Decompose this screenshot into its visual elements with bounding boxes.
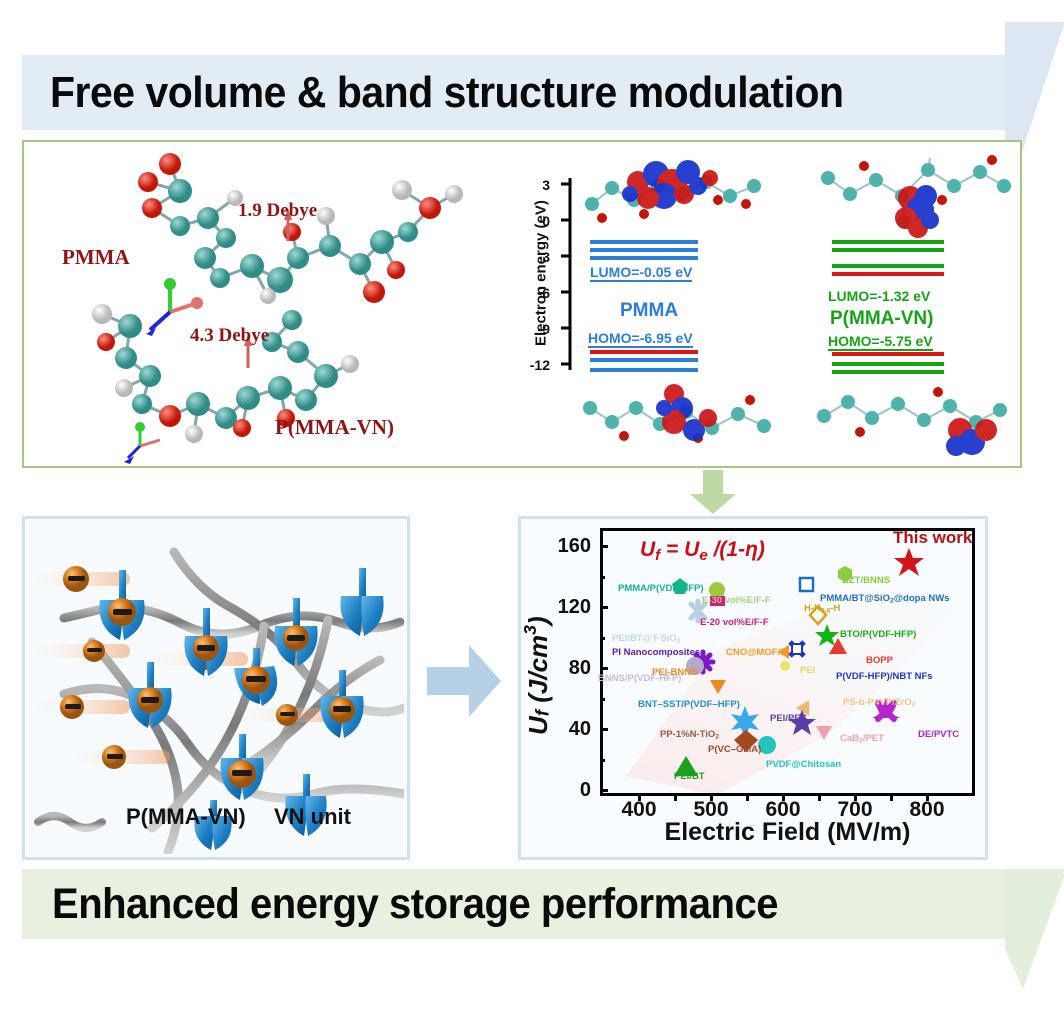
legend-chain-label: P(MMA-VN) [126,804,246,830]
chart-label-e20: E-20 vol%E/F-F [700,618,769,628]
chart-label-pvdf-chitosan: PVDF@Chitosan [766,760,841,770]
band-ytick--6: -6 [520,285,550,301]
axes-gizmo-icon-2 [124,422,160,464]
chart-label-de-pvtc: DE/PVTC [918,730,959,740]
pmmavn-lumo-level-1 [832,240,944,244]
chart-ytick-160: 160 [543,535,591,558]
chart-label-h-k08-h: H-K0.8-H [804,604,840,616]
pmmavn-homo-level-1 [832,362,944,366]
chart-xtick-600: 600 [748,798,818,822]
band-ytick-3: 3 [520,177,550,193]
pmma-homo-level-2 [590,368,698,372]
chart-label-bnt-sst: BNT–SST/P(VDF–HFP) [638,700,740,710]
pmma-lumo-level-3 [590,256,698,260]
pmmavn-lumo-level-3 [832,264,944,268]
top-banner: Free volume & band structure modulation [22,55,1022,130]
pmmavn-lumo-level-red [832,272,944,276]
arrow-right-icon [427,645,501,717]
pmmavn-homo-value: HOMO=-5.75 eV [828,333,933,351]
chart-ytick-80: 80 [543,657,591,680]
band-ytick--12: -12 [517,357,550,373]
chart-equation-annotation: Uf = Ue /(1-η) [640,538,765,564]
legend-chain-swatch [38,816,102,828]
chart-label-cab2-pet: CaB2/PET [840,734,884,746]
chart-plot-frame [600,528,975,796]
pmmavn-homo-orbital-illustration [810,380,1020,470]
pmma-homo-level-red [590,350,698,354]
arrow-down-icon [690,470,736,514]
chart-label-pmma-pvdf-hfp: PMMA/P(VDF-HFP) [618,584,704,594]
pmmavn-lumo-orbital-illustration [818,152,1018,282]
chart-xtick-800: 800 [892,798,962,822]
chart-label-pei-bnns: PEI-BNNS [652,668,697,678]
chart-label-pi-nanocomposites: PI Nanocomposites [612,648,700,658]
pmmavn-name-label: P(MMA-VN) [830,308,933,330]
label-dipole-pmma: 1.9 Debye [238,200,317,222]
chart-label-e30: E-30 vol%E/F-F [702,596,771,606]
pmmavn-lumo-level-2 [832,248,944,252]
label-pmma: PMMA [62,245,130,270]
chart-label-nbt-nfs: P(VDF-HFP)/NBT NFs [836,672,933,682]
chart-ytick-120: 120 [543,596,591,619]
chart-x-axis-label: Electric Field (MV/m) [600,818,975,847]
pmma-homo-value: HOMO=-6.95 eV [588,330,693,348]
chart-label-bzt-bnns: BZT/BNNS [842,576,890,586]
pmma-name-label: PMMA [620,300,678,322]
pmma-lumo-level-2 [590,248,698,252]
band-ytick--3: -3 [520,249,550,265]
bottom-banner: Enhanced energy storage performance [22,869,1022,939]
pmma-homo-level-1 [590,358,698,362]
chart-label-pei-pes: PEI/PES [770,714,807,724]
chart-label-pp-1-n-tio2: PP-1%N-TiO2 [660,730,719,742]
pmmavn-lumo-value: LUMO=-1.32 eV [828,288,930,304]
chart-label-pei: PEI [800,666,815,676]
molecular-structures-illustration [30,146,510,464]
chart-label-pvc-gma: P(VC–GMA) [708,745,761,755]
chart-xtick-700: 700 [820,798,890,822]
chart-this-work-annotation: This work [893,528,972,548]
chart-label-pei-bt: PEI/BT [674,772,705,782]
chart-xtick-500: 500 [676,798,746,822]
pmmavn-homo-level-2 [832,370,944,374]
chart-xtick-400: 400 [604,798,674,822]
pmma-homo-orbital-illustration [578,378,788,468]
chart-ytick-0: 0 [543,779,591,802]
chart-label-ps-b-p4vp-zro2: PS-b-P4VP/ZrO2 [843,698,915,710]
chart-label-bopp: BOPP [866,656,893,666]
chart-ytick-40: 40 [543,718,591,741]
chart-label-cno-mof-pi: CNO@MOF/PI [726,648,789,658]
band-ytick-0: 0 [520,213,550,229]
label-pmma-vn: P(MMA-VN) [275,415,394,440]
legend-vn-label: VN unit [274,804,351,830]
bottom-banner-text: Enhanced energy storage performance [52,880,778,929]
pmma-lumo-value: LUMO=-0.05 eV [590,264,692,282]
chart-label-bto-pvdf-hfp: BTO/P(VDF-HFP) [840,630,916,640]
band-ytick--9: -9 [520,321,550,337]
top-banner-text: Free volume & band structure modulation [50,68,844,118]
band-diagram-y-axis-label: Electron energy (eV) [530,178,552,368]
bottom-banner-tail-icon [1005,869,1064,989]
pmmavn-homo-level-red [832,352,944,356]
chart-label-pei-bt-t-sio2: PEI/BT@T-SiO2 [612,634,681,646]
pmma-lumo-level-1 [590,240,698,244]
label-dipole-pmma-vn: 4.3 Debye [190,325,269,347]
band-diagram-axis [556,178,572,370]
